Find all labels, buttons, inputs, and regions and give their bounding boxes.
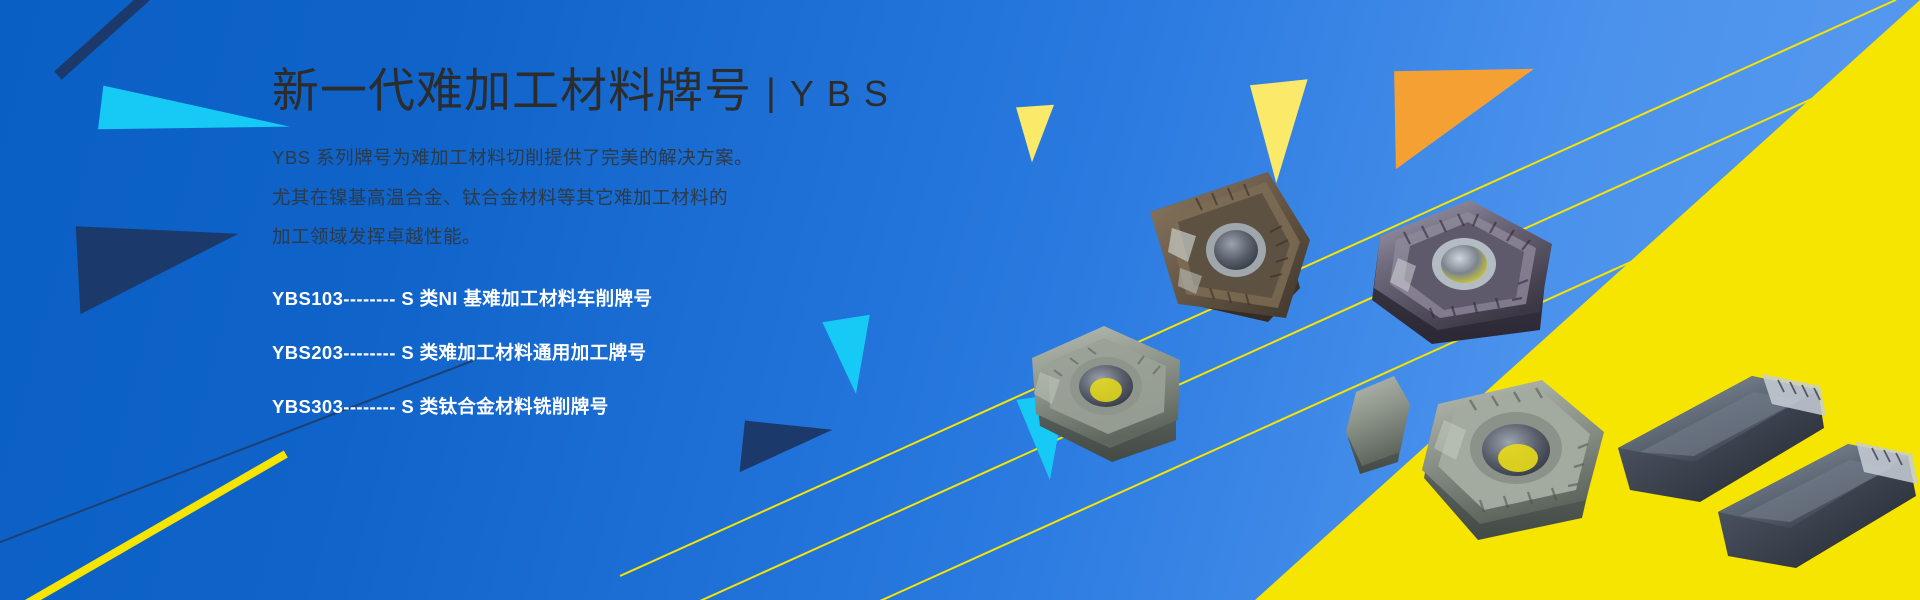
- orange-triangle: [1394, 69, 1536, 169]
- cyan-triangle-top-left: [98, 86, 292, 153]
- grade-list: YBS103-------- S 类NI 基难加工材料车削牌号 YBS203--…: [272, 285, 1032, 419]
- description-line: 尤其在镍基高温合金、钛合金材料等其它难加工材料的: [272, 187, 1032, 208]
- description-line: YBS 系列牌号为难加工材料切削提供了完美的解决方案。: [272, 147, 1032, 168]
- grade-item-ybs203: YBS203-------- S 类难加工材料通用加工牌号: [272, 339, 1032, 365]
- cnmg-turning-insert: [1372, 200, 1552, 344]
- brand-label: YBS: [790, 76, 901, 115]
- navy-diagonal-bar: [54, 0, 307, 80]
- lemon-triangle-large: [1250, 79, 1318, 185]
- title-divider: |: [766, 74, 776, 115]
- navy-triangle-left: [76, 218, 242, 314]
- page-title: 新一代难加工材料牌号: [272, 66, 752, 115]
- heading-row: 新一代难加工材料牌号 | YBS: [272, 0, 1032, 115]
- grade-item-ybs303: YBS303-------- S 类钛合金材料铣削牌号: [272, 393, 1032, 419]
- round-milling-insert: [1346, 376, 1410, 474]
- grade-item-ybs103: YBS103-------- S 类NI 基难加工材料车削牌号: [272, 285, 1032, 311]
- yellow-diagonal-bar: [24, 451, 288, 600]
- description-block: YBS 系列牌号为难加工材料切削提供了完美的解决方案。 尤其在镍基高温合金、钛合…: [272, 147, 1032, 247]
- promo-banner: 新一代难加工材料牌号 | YBS YBS 系列牌号为难加工材料切削提供了完美的解…: [0, 0, 1920, 600]
- description-line: 加工领域发挥卓越性能。: [272, 226, 1032, 247]
- banner-content: 新一代难加工材料牌号 | YBS YBS 系列牌号为难加工材料切削提供了完美的解…: [272, 0, 1032, 447]
